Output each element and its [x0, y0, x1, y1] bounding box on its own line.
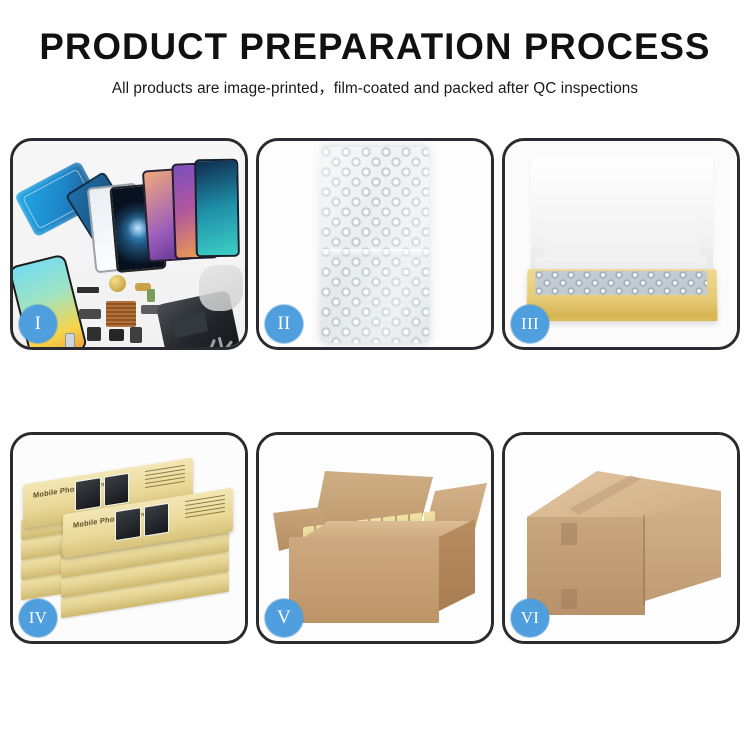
carton-tab-upper	[561, 523, 577, 545]
sealed-carton-icon	[517, 461, 727, 623]
box-screen-artwork-icon	[115, 503, 169, 542]
step-badge-3: III	[511, 305, 549, 343]
camera-module-part-icon	[87, 327, 101, 341]
flex-cable-part-icon	[77, 287, 99, 293]
product-preparation-process-page: PRODUCT PREPARATION PROCESS All products…	[0, 0, 750, 750]
carton-front-panel	[289, 537, 439, 623]
header: PRODUCT PREPARATION PROCESS All products…	[0, 0, 750, 98]
phone-screen-teal-icon	[194, 159, 240, 258]
carton-front-panel	[527, 517, 645, 615]
connector-grid-part-icon	[106, 301, 136, 327]
screws-icon	[209, 337, 237, 350]
process-step-card-2[interactable]: II	[256, 138, 494, 350]
speaker-part-icon	[79, 309, 101, 319]
step-badge-1: I	[19, 305, 57, 343]
process-step-card-1[interactable]: I	[10, 138, 248, 350]
button-part-icon	[130, 327, 142, 343]
step-badge-5: V	[265, 599, 303, 637]
open-carton-icon	[273, 463, 479, 631]
page-subtitle: All products are image-printed，film-coat…	[0, 76, 750, 98]
small-module-part-icon	[147, 289, 155, 302]
process-step-card-5[interactable]: V	[256, 432, 494, 644]
bubble-wrap-icon	[321, 147, 429, 343]
carton-vertical-edge	[643, 515, 645, 605]
step-badge-6: VI	[511, 599, 549, 637]
step-badge-2: II	[265, 305, 303, 343]
process-steps-grid: I II III	[10, 138, 740, 644]
process-step-card-4[interactable]: Mobile Phone Spare Parts Mobile Phone Sp…	[10, 432, 248, 644]
vibrator-motor-part-icon	[109, 275, 126, 292]
step-badge-4: IV	[19, 599, 57, 637]
kraft-tray-lip	[527, 295, 717, 317]
hand-icon	[199, 265, 243, 311]
sim-tray-part-icon	[65, 333, 75, 350]
page-title: PRODUCT PREPARATION PROCESS	[4, 26, 747, 67]
chip-part-icon	[109, 329, 124, 341]
process-step-card-3[interactable]: III	[502, 138, 740, 350]
process-step-card-6[interactable]: VI	[502, 432, 740, 644]
carton-tab-lower	[561, 589, 577, 609]
